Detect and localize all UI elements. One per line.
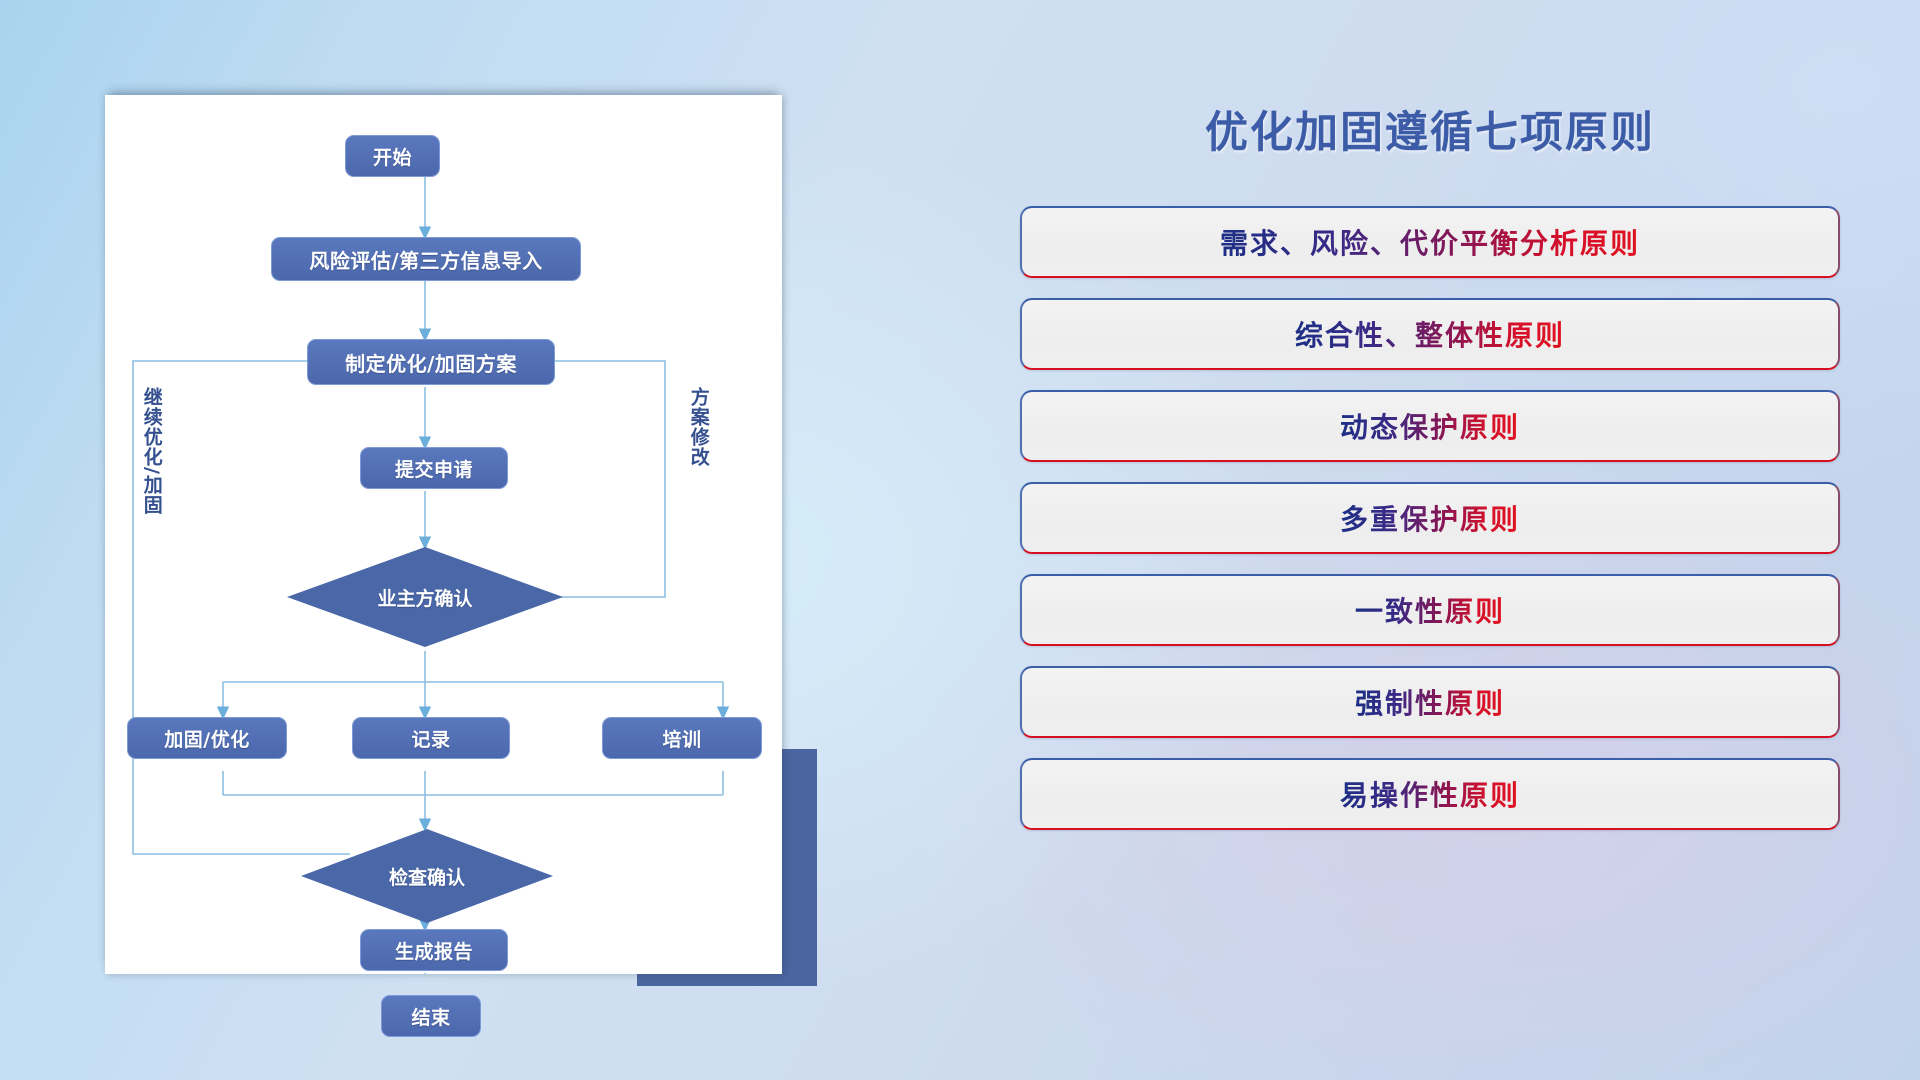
principle-item-6[interactable]: 强制性原则 — [1020, 666, 1840, 738]
flowchart-card: 开始 风险评估/第三方信息导入 制定优化/加固方案 提交申请 业主方确认 加固/… — [105, 95, 782, 974]
principle-label: 需求、风险、代价平衡分析原则 — [1220, 222, 1640, 262]
flow-node-label: 检查确认 — [389, 863, 465, 890]
flow-edge-label-right-loop: 方案修改 — [688, 387, 708, 467]
flow-node-owner-confirm[interactable]: 业主方确认 — [287, 547, 563, 647]
principle-item-5[interactable]: 一致性原则 — [1020, 574, 1840, 646]
flow-node-submit-application[interactable]: 提交申请 — [360, 447, 508, 489]
flow-node-start[interactable]: 开始 — [345, 135, 440, 177]
principle-item-1[interactable]: 需求、风险、代价平衡分析原则 — [1020, 206, 1840, 278]
flow-node-label: 业主方确认 — [377, 584, 472, 611]
flow-node-label: 培训 — [662, 725, 701, 752]
principle-label: 一致性原则 — [1355, 590, 1505, 630]
flow-node-record[interactable]: 记录 — [352, 717, 510, 759]
flow-node-make-plan[interactable]: 制定优化/加固方案 — [307, 339, 555, 385]
flow-node-label: 风险评估/第三方信息导入 — [309, 245, 542, 274]
flow-node-label: 生成报告 — [395, 937, 473, 964]
flow-node-end[interactable]: 结束 — [381, 995, 481, 1037]
principle-item-3[interactable]: 动态保护原则 — [1020, 390, 1840, 462]
flow-node-check-confirm[interactable]: 检查确认 — [301, 829, 553, 923]
flow-node-risk-assessment[interactable]: 风险评估/第三方信息导入 — [271, 237, 581, 281]
flow-node-label: 记录 — [411, 725, 450, 752]
flow-node-generate-report[interactable]: 生成报告 — [360, 929, 508, 971]
flow-node-label: 提交申请 — [395, 455, 473, 482]
flow-node-label: 制定优化/加固方案 — [345, 348, 517, 377]
principle-label: 强制性原则 — [1355, 682, 1505, 722]
principle-label: 动态保护原则 — [1340, 406, 1520, 446]
principle-label: 多重保护原则 — [1340, 498, 1520, 538]
flow-node-label: 结束 — [411, 1003, 450, 1030]
flow-node-reinforce-optimize[interactable]: 加固/优化 — [127, 717, 287, 759]
flow-edge-label-left-loop: 继续优化/加固 — [141, 387, 161, 515]
principle-item-2[interactable]: 综合性、整体性原则 — [1020, 298, 1840, 370]
flow-node-label: 加固/优化 — [164, 725, 249, 752]
principle-label: 综合性、整体性原则 — [1295, 314, 1565, 354]
flow-node-training[interactable]: 培训 — [602, 717, 762, 759]
principle-item-4[interactable]: 多重保护原则 — [1020, 482, 1840, 554]
principle-item-7[interactable]: 易操作性原则 — [1020, 758, 1840, 830]
panel-title: 优化加固遵循七项原则 — [1020, 98, 1840, 160]
principles-panel: 优化加固遵循七项原则 需求、风险、代价平衡分析原则 综合性、整体性原则 动态保护… — [1020, 98, 1840, 998]
principle-label: 易操作性原则 — [1340, 774, 1520, 814]
flow-node-label: 开始 — [373, 143, 412, 170]
